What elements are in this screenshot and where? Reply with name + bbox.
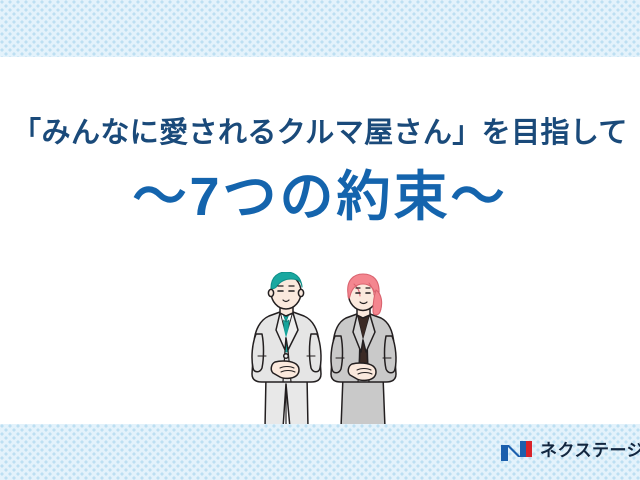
headline-block: 「みんなに愛されるクルマ屋さん」を目指して 〜7つの約束〜 — [0, 112, 640, 228]
male-staff-figure — [252, 272, 321, 428]
female-staff-figure — [331, 274, 396, 428]
promotional-banner: 「みんなに愛されるクルマ屋さん」を目指して 〜7つの約束〜 — [0, 0, 640, 480]
staff-illustration — [236, 272, 412, 428]
staff-illustration-svg — [236, 272, 412, 428]
headline-secondary: 〜7つの約束〜 — [0, 166, 640, 228]
brand-logo-text: ネクステージ — [540, 440, 640, 462]
top-dot-band — [0, 0, 640, 57]
nextage-n-logo-icon — [500, 440, 534, 462]
brand-logo: ネクステージ — [500, 440, 640, 462]
headline-primary: 「みんなに愛されるクルマ屋さん」を目指して — [0, 112, 640, 154]
